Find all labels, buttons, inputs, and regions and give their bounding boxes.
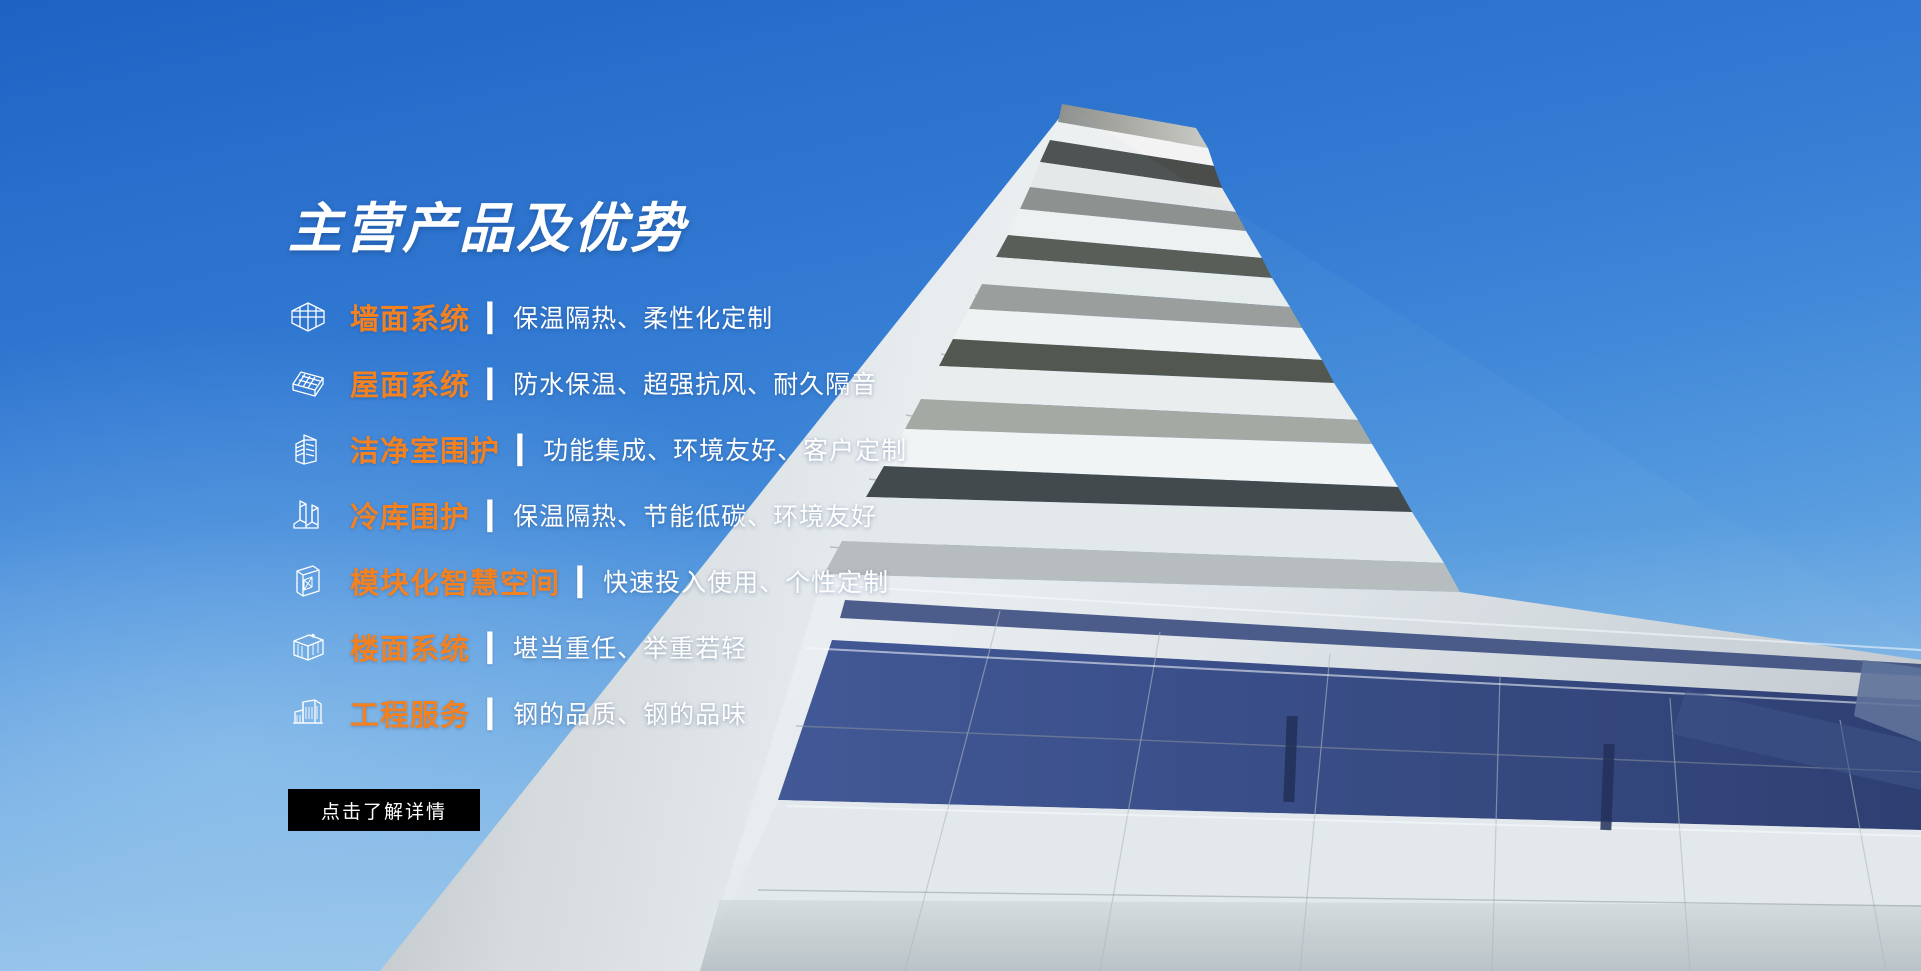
product-row-cold-storage[interactable]: 冷库围护 ▌ 保温隔热、节能低碳、环境友好	[288, 489, 1068, 541]
product-row-wall-system[interactable]: 墙面系统 ▌ 保温隔热、柔性化定制	[288, 291, 1068, 343]
product-row-roof-system[interactable]: 屋面系统 ▌ 防水保温、超强抗风、耐久隔音	[288, 357, 1068, 409]
product-title: 工程服务	[350, 692, 470, 734]
product-list: 墙面系统 ▌ 保温隔热、柔性化定制	[288, 291, 1068, 739]
product-separator: ▌	[487, 632, 498, 663]
modular-cube-icon	[288, 561, 328, 601]
product-desc: 堪当重任、举重若轻	[513, 629, 747, 665]
product-title: 楼面系统	[350, 626, 470, 668]
product-desc: 保温隔热、柔性化定制	[513, 299, 773, 335]
product-separator: ▌	[487, 302, 498, 333]
roof-slab-icon	[288, 363, 328, 403]
hero-banner: 主营产品及优势 墙面系统 ▌ 保温隔热、柔性化定制	[0, 0, 1921, 971]
product-desc: 功能集成、环境友好、客户定制	[543, 431, 907, 467]
engineering-icon	[288, 693, 328, 733]
product-desc: 保温隔热、节能低碳、环境友好	[513, 497, 877, 533]
product-desc: 钢的品质、钢的品味	[513, 695, 747, 731]
floor-deck-icon	[288, 627, 328, 667]
learn-more-button[interactable]: 点击了解详情	[288, 789, 480, 831]
product-title: 墙面系统	[350, 296, 470, 338]
product-separator: ▌	[517, 434, 528, 465]
product-row-cleanroom[interactable]: 洁净室围护 ▌ 功能集成、环境友好、客户定制	[288, 423, 1068, 475]
product-separator: ▌	[577, 566, 588, 597]
product-separator: ▌	[487, 698, 498, 729]
product-title: 洁净室围护	[350, 428, 500, 470]
wall-panel-icon	[288, 297, 328, 337]
product-desc: 快速投入使用、个性定制	[603, 563, 889, 599]
product-separator: ▌	[487, 368, 498, 399]
product-separator: ▌	[487, 500, 498, 531]
page-title: 主营产品及优势	[288, 200, 1068, 258]
hero-content: 主营产品及优势 墙面系统 ▌ 保温隔热、柔性化定制	[288, 200, 1068, 831]
cleanroom-icon	[288, 429, 328, 469]
learn-more-button-label: 点击了解详情	[321, 797, 447, 824]
product-title: 模块化智慧空间	[350, 560, 560, 602]
product-row-engineering-service[interactable]: 工程服务 ▌ 钢的品质、钢的品味	[288, 687, 1068, 739]
product-row-modular-space[interactable]: 模块化智慧空间 ▌ 快速投入使用、个性定制	[288, 555, 1068, 607]
product-title: 冷库围护	[350, 494, 470, 536]
product-desc: 防水保温、超强抗风、耐久隔音	[513, 365, 877, 401]
product-title: 屋面系统	[350, 362, 470, 404]
product-row-floor-system[interactable]: 楼面系统 ▌ 堪当重任、举重若轻	[288, 621, 1068, 673]
cold-storage-icon	[288, 495, 328, 535]
